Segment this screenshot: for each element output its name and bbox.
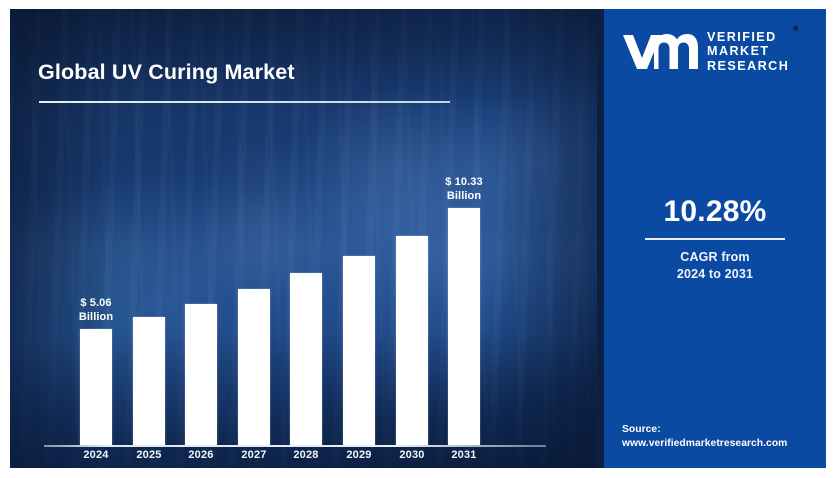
cagr-divider (645, 238, 785, 240)
cagr-caption-line2: 2024 to 2031 (604, 266, 826, 283)
chart-panel: Global UV Curing Market 2024202520262027… (10, 9, 597, 468)
cagr-caption: CAGR from 2024 to 2031 (604, 249, 826, 283)
bar-2027 (238, 289, 270, 445)
value-callout-2031: $ 10.33Billion (424, 175, 504, 203)
source-label: Source: (622, 423, 787, 437)
cagr-block: 10.28% CAGR from 2024 to 2031 (604, 195, 826, 283)
callout-amount: $ 10.33 (424, 175, 504, 189)
bar-2024 (80, 329, 112, 445)
cagr-caption-line1: CAGR from (604, 249, 826, 266)
source-block: Source: www.verifiedmarketresearch.com (622, 423, 787, 450)
brand-wordmark: VERIFIED MARKET RESEARCH ® (707, 27, 789, 73)
panel-divider (597, 9, 604, 468)
bar-2031 (448, 208, 480, 445)
source-url[interactable]: www.verifiedmarketresearch.com (622, 437, 787, 451)
value-callout-2024: $ 5.06Billion (56, 296, 136, 324)
x-axis-label-2031: 2031 (429, 449, 499, 461)
bar-2028 (290, 273, 322, 445)
bar-2025 (133, 317, 165, 445)
brand-line-verified: VERIFIED (707, 30, 789, 44)
brand-line-market: MARKET (707, 44, 789, 58)
bar-2030 (396, 236, 428, 445)
callout-amount: $ 5.06 (56, 296, 136, 310)
bar-2026 (185, 304, 217, 445)
bar-2029 (343, 256, 375, 445)
registered-trademark-icon: ® (793, 26, 798, 33)
brand-panel: VERIFIED MARKET RESEARCH ® 10.28% CAGR f… (604, 9, 826, 468)
cagr-value: 10.28% (604, 195, 826, 229)
callout-unit: Billion (424, 189, 504, 203)
brand-logo[interactable]: VERIFIED MARKET RESEARCH ® (622, 27, 789, 73)
x-axis-line (44, 445, 546, 447)
vmr-monogram-icon (622, 27, 698, 71)
callout-unit: Billion (56, 310, 136, 324)
infographic-canvas: Global UV Curing Market 2024202520262027… (10, 9, 826, 468)
infographic-frame: Global UV Curing Market 2024202520262027… (0, 0, 836, 478)
brand-line-research: RESEARCH (707, 59, 789, 73)
bar-chart-plot: 20242025202620272028202920302031$ 5.06Bi… (10, 9, 597, 468)
